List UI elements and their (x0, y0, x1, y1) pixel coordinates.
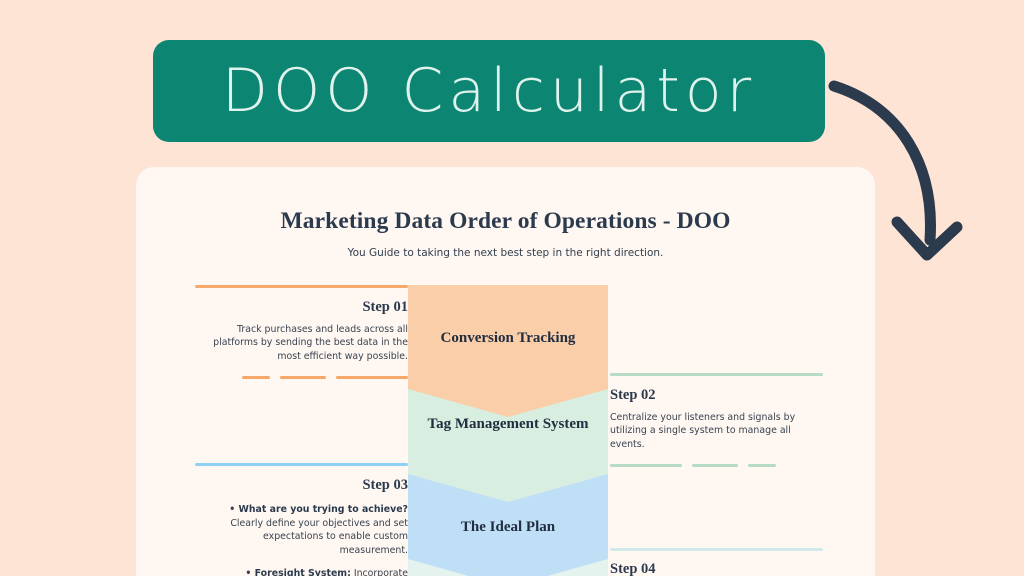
doo-diagram: Conversion Tracking Tag Management Syste… (136, 167, 875, 576)
bullet-dot-icon: • (245, 568, 254, 576)
stage-title-the-ideal-plan: The Ideal Plan (408, 518, 608, 536)
stage-title-tag-management-system: Tag Management System (408, 415, 608, 433)
step-03-label: Step 03 (195, 477, 408, 494)
title-banner: DOO Calculator (153, 40, 825, 142)
step-02-block: Step 02 Centralize your listeners and si… (610, 373, 823, 467)
dash (280, 376, 326, 379)
dash (242, 376, 270, 379)
bullet-lead: Foresight System: (255, 568, 351, 576)
step-03-bullet-2: • Foresight System: Incorporate (195, 567, 408, 576)
step-01-block: Step 01 Track purchases and leads across… (195, 285, 408, 379)
step-03-block: Step 03 • What are you trying to achieve… (195, 463, 408, 576)
dash (610, 464, 682, 467)
step-02-body: Centralize your listeners and signals by… (610, 411, 823, 451)
content-card: Marketing Data Order of Operations - DOO… (136, 167, 875, 576)
dash (748, 464, 776, 467)
stage-title-conversion-tracking: Conversion Tracking (408, 329, 608, 347)
bullet-text: Clearly define your objectives and set e… (230, 518, 408, 556)
step-04-rule (610, 548, 823, 551)
step-04-label: Step 04 (610, 561, 823, 576)
step-01-dashes (195, 376, 408, 379)
step-02-dashes (610, 464, 823, 467)
step-04-block: Step 04 (610, 548, 823, 576)
banner-title: DOO Calculator (222, 61, 756, 121)
bullet-dot-icon: • (229, 504, 238, 515)
dash (336, 376, 408, 379)
step-01-rule (195, 285, 408, 288)
step-02-label: Step 02 (610, 387, 823, 404)
step-02-rule (610, 373, 823, 376)
step-01-label: Step 01 (195, 299, 408, 316)
step-01-body: Track purchases and leads across all pla… (195, 323, 408, 363)
step-03-bullet-1: • What are you trying to achieve? Clearl… (195, 503, 408, 558)
step-03-rule (195, 463, 408, 466)
dash (692, 464, 738, 467)
bullet-lead: What are you trying to achieve? (239, 504, 408, 515)
bullet-text: Incorporate (354, 568, 408, 576)
